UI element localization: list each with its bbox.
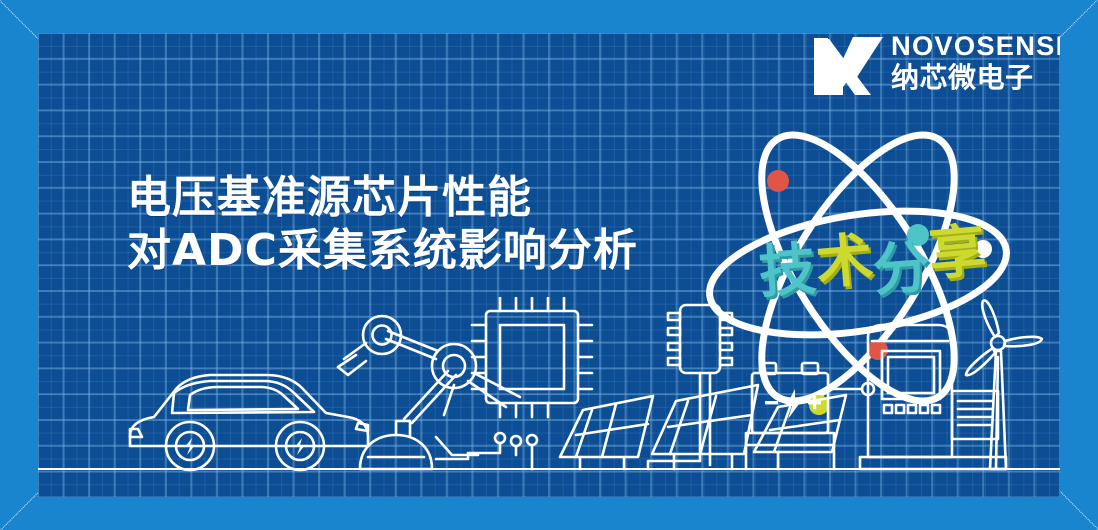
status-badge: 技 术 分 享 bbox=[759, 240, 989, 302]
soic-package-outline bbox=[648, 305, 732, 469]
electron-red-top-left bbox=[767, 170, 789, 192]
badge-char-3: 分 bbox=[871, 236, 932, 302]
title-line-2: 对ADC采集系统影响分析 bbox=[127, 224, 747, 277]
novosense-logo-text: NOVOSENSE 纳芯微电子 bbox=[891, 33, 1060, 94]
chip-ic-outline bbox=[436, 297, 592, 469]
badge-char-1: 技 bbox=[757, 238, 818, 304]
electric-car-outline bbox=[130, 375, 368, 470]
badge-char-2: 术 bbox=[813, 229, 875, 296]
solar-panels-outline bbox=[560, 385, 846, 469]
novosense-n-v-mark-icon bbox=[813, 35, 885, 97]
ev-charging-station-outline bbox=[860, 325, 1006, 469]
badge-char-4: 享 bbox=[926, 220, 988, 287]
illustration-strip bbox=[38, 297, 1060, 497]
tech-share-banner: NOVOSENSE 纳芯微电子 电压基准源芯片性能 对ADC采集系统影响分析 bbox=[0, 0, 1098, 530]
blueprint-panel: NOVOSENSE 纳芯微电子 电压基准源芯片性能 对ADC采集系统影响分析 bbox=[38, 33, 1060, 497]
wind-turbine-outline bbox=[938, 300, 1042, 469]
novosense-wordmark: NOVOSENSE bbox=[891, 33, 1060, 61]
novosense-logo: NOVOSENSE 纳芯微电子 bbox=[813, 33, 1060, 111]
novosense-chinese-name: 纳芯微电子 bbox=[891, 62, 1060, 94]
page-title: 电压基准源芯片性能 对ADC采集系统影响分析 bbox=[127, 171, 747, 277]
title-line-1: 电压基准源芯片性能 bbox=[127, 171, 747, 224]
